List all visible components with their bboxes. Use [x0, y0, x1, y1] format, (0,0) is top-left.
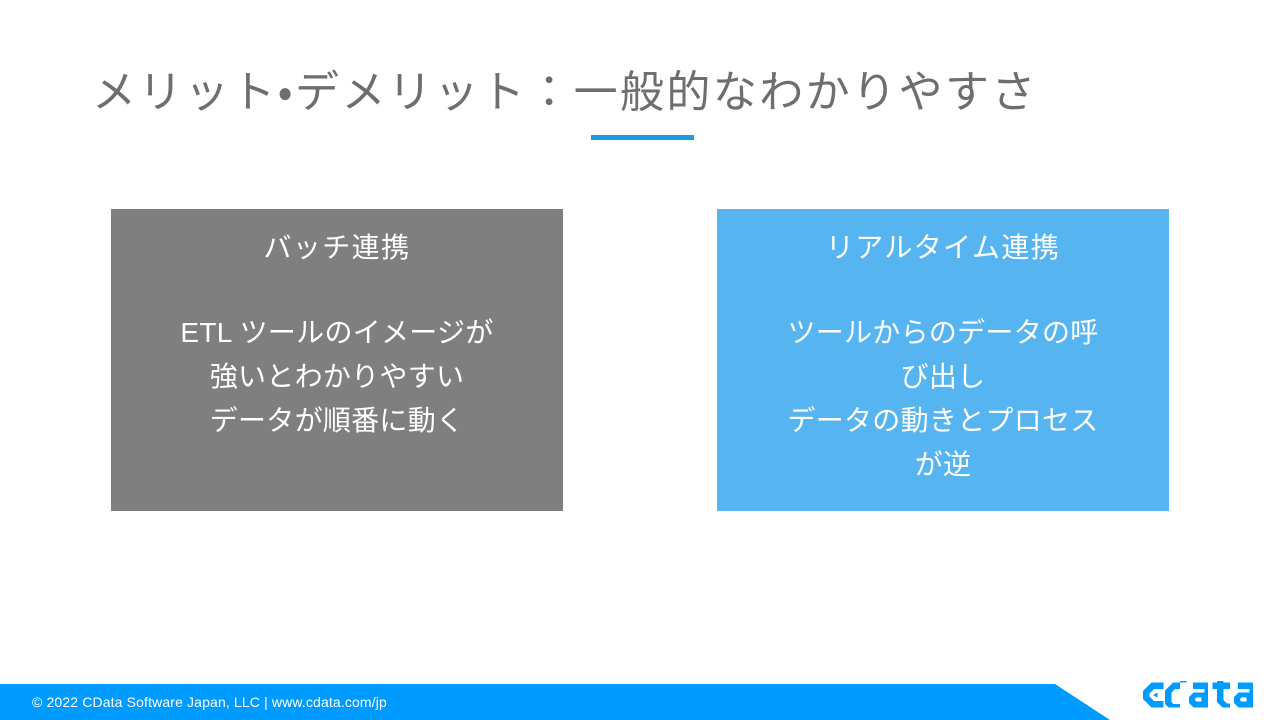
title-underline-accent [591, 135, 694, 140]
card-realtime-body-line: ツールからのデータの呼 [733, 311, 1153, 355]
card-batch-body-line: ETL ツールのイメージが [127, 311, 547, 355]
card-realtime: リアルタイム連携 ツールからのデータの呼 び出し データの動きとプロセス が逆 [717, 209, 1169, 511]
card-batch: バッチ連携 ETL ツールのイメージが 強いとわかりやすい データが順番に動く [111, 209, 563, 511]
footer-copyright: © 2022 CData Software Japan, LLC | www.c… [32, 684, 387, 720]
footer: © 2022 CData Software Japan, LLC | www.c… [0, 684, 1280, 720]
card-realtime-body-line: データの動きとプロセス [733, 399, 1153, 443]
card-realtime-heading: リアルタイム連携 [729, 227, 1157, 269]
cdata-logo [1142, 681, 1260, 708]
card-batch-body-line: データが順番に動く [127, 399, 547, 443]
slide-canvas: メリット・デメリット：一般的なわかりやすさ バッチ連携 ETL ツールのイメージ… [0, 0, 1280, 720]
card-batch-body-line: 強いとわかりやすい [127, 355, 547, 399]
card-realtime-body: ツールからのデータの呼 び出し データの動きとプロセス が逆 [729, 311, 1157, 487]
card-batch-body: ETL ツールのイメージが 強いとわかりやすい データが順番に動く [123, 311, 551, 443]
card-realtime-body-line: び出し [733, 355, 1153, 399]
card-batch-heading: バッチ連携 [123, 227, 551, 269]
card-batch-spacer [123, 269, 551, 311]
card-realtime-body-line: が逆 [733, 443, 1153, 487]
page-title: メリット・デメリット：一般的なわかりやすさ [92, 61, 1192, 125]
card-realtime-spacer [729, 269, 1157, 311]
